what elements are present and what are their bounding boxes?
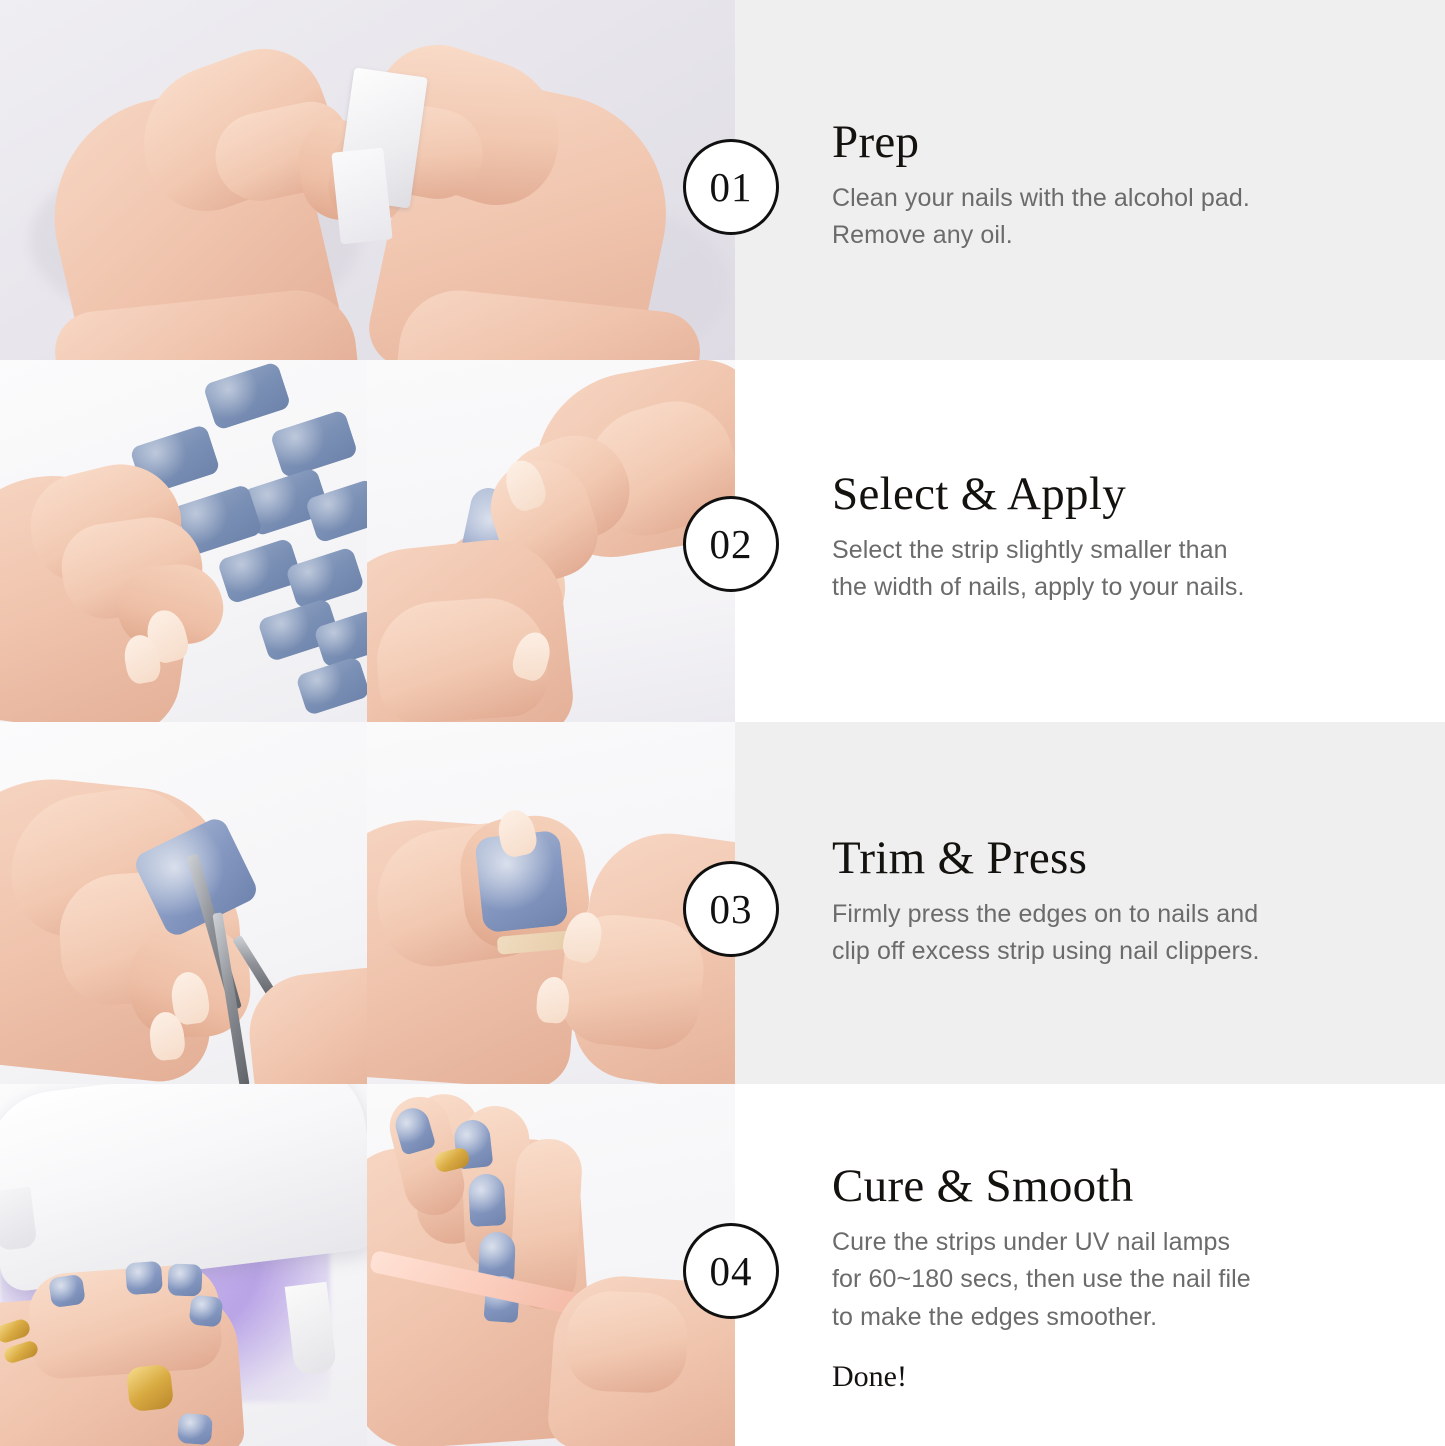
step-desc-01-line-2: Remove any oil. <box>832 217 1405 255</box>
photo-prep-alcohol-pad <box>0 0 735 360</box>
step-number-01: 01 <box>710 167 753 208</box>
photo-nail-file-smoothing <box>367 1084 735 1446</box>
step-number-04: 04 <box>710 1251 753 1292</box>
photo-uv-lamp-curing <box>0 1084 367 1446</box>
step-number-badge-03: 03 <box>683 861 779 957</box>
step-03-photos <box>0 722 735 1084</box>
step-04-text-column: 04 Cure & Smooth Cure the strips under U… <box>735 1084 1445 1446</box>
step-title-01: Prep <box>832 118 1405 168</box>
step-02-photos <box>0 360 735 722</box>
photo-nail-strip-sheet <box>0 360 367 722</box>
step-number-badge-02: 02 <box>683 496 779 592</box>
step-row-01: 01 Prep Clean your nails with the alcoho… <box>0 0 1445 360</box>
step-number-02: 02 <box>710 524 753 565</box>
instruction-infographic: 01 Prep Clean your nails with the alcoho… <box>0 0 1445 1446</box>
step-desc-01-line-1: Clean your nails with the alcohol pad. <box>832 180 1405 218</box>
step-01-photos <box>0 0 735 360</box>
step-03-text-column: 03 Trim & Press Firmly press the edges o… <box>735 722 1445 1084</box>
step-desc-04-line-2: for 60~180 secs, then use the nail file <box>832 1261 1405 1299</box>
step-desc-02-line-1: Select the strip slightly smaller than <box>832 532 1405 570</box>
photo-trim-with-clippers <box>0 722 367 1084</box>
step-row-03: 03 Trim & Press Firmly press the edges o… <box>0 722 1445 1084</box>
step-02-text-column: 02 Select & Apply Select the strip sligh… <box>735 360 1445 722</box>
step-desc-04-line-3: to make the edges smoother. <box>832 1299 1405 1337</box>
step-number-badge-04: 04 <box>683 1223 779 1319</box>
step-row-04: 04 Cure & Smooth Cure the strips under U… <box>0 1084 1445 1446</box>
step-number-03: 03 <box>710 889 753 930</box>
step-01-text-column: 01 Prep Clean your nails with the alcoho… <box>735 0 1445 360</box>
step-number-badge-01: 01 <box>683 139 779 235</box>
step-title-03: Trim & Press <box>832 834 1405 884</box>
photo-press-with-cuticle-stick <box>367 722 735 1084</box>
step-desc-03-line-2: clip off excess strip using nail clipper… <box>832 933 1405 971</box>
step-title-04: Cure & Smooth <box>832 1162 1405 1212</box>
step-desc-04-line-1: Cure the strips under UV nail lamps <box>832 1224 1405 1262</box>
done-label: Done! <box>832 1360 1405 1394</box>
photo-apply-strip-to-nail <box>367 360 735 722</box>
step-desc-03-line-1: Firmly press the edges on to nails and <box>832 896 1405 934</box>
gold-ring <box>126 1364 174 1412</box>
step-row-02: 02 Select & Apply Select the strip sligh… <box>0 360 1445 722</box>
step-04-photos <box>0 1084 735 1446</box>
step-desc-02-line-2: the width of nails, apply to your nails. <box>832 569 1405 607</box>
step-title-02: Select & Apply <box>832 470 1405 520</box>
